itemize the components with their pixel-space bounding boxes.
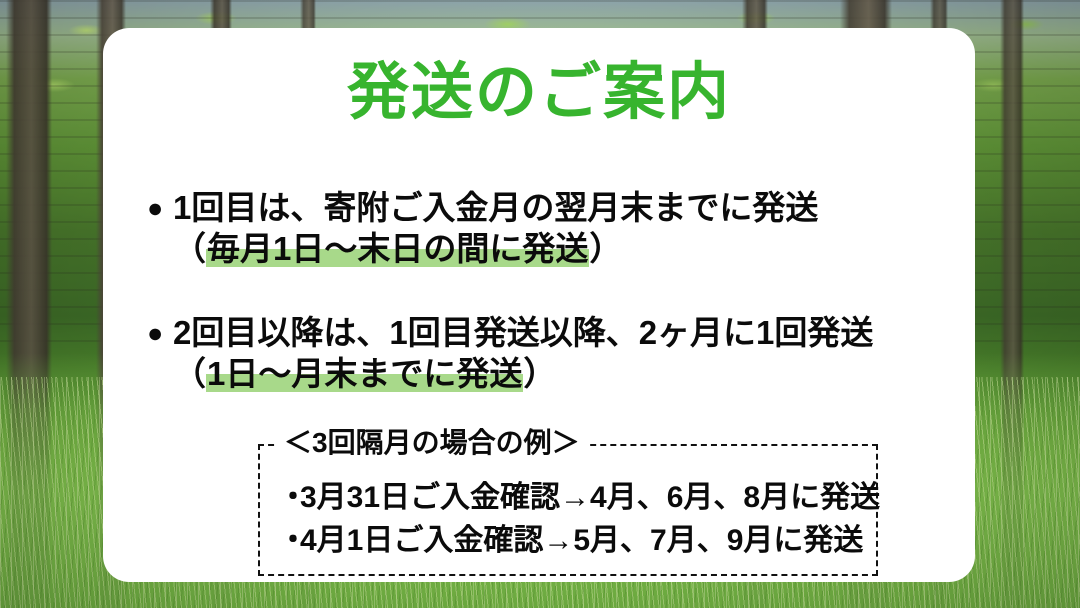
example-bullet-icon: ・ — [278, 520, 300, 563]
bullet-marker-icon: ● — [147, 192, 173, 225]
slide-stage: 発送のご案内 ●1回目は、寄附ご入金月の翌月末までに発送 （毎月1日〜末日の間に… — [0, 0, 1080, 608]
bullet-2-main-line: ●2回目以降は、1回目発送以降、2ヶ月に1回発送 — [147, 313, 955, 354]
example-box-title: ＜3回隔月の場合の例＞ — [276, 428, 588, 459]
example-line-1: ・3月31日ご入金確認→4月、6月、8月に発送 — [278, 477, 880, 520]
bullet-2-sub-line: （1日〜月末までに発送） — [147, 354, 955, 395]
bullet-marker-icon: ● — [147, 317, 173, 350]
bullet-1-main-line: ●1回目は、寄附ご入金月の翌月末までに発送 — [147, 188, 955, 229]
content-card: 発送のご案内 ●1回目は、寄附ご入金月の翌月末までに発送 （毎月1日〜末日の間に… — [103, 28, 975, 582]
bullet-2-main-text: 2回目以降は、1回目発送以降、2ヶ月に1回発送 — [173, 314, 873, 351]
bullet-1-paren-open: （ — [173, 230, 206, 267]
example-line-1-text: 3月31日ご入金確認→4月、6月、8月に発送 — [300, 481, 880, 514]
bullet-item-1: ●1回目は、寄附ご入金月の翌月末までに発送 （毎月1日〜末日の間に発送） — [147, 188, 955, 270]
bullet-1-main-text: 1回目は、寄附ご入金月の翌月末までに発送 — [173, 189, 818, 226]
bullet-1-highlighted-text: 毎月1日〜末日の間に発送 — [206, 230, 589, 267]
example-box-lines: ・3月31日ご入金確認→4月、6月、8月に発送 ・4月1日ご入金確認→5月、7月… — [278, 477, 880, 562]
bullet-2-highlighted-text: 1日〜月末までに発送 — [206, 355, 523, 392]
bullet-1-paren-close: ） — [589, 230, 622, 267]
bullet-item-2: ●2回目以降は、1回目発送以降、2ヶ月に1回発送 （1日〜月末までに発送） — [147, 313, 955, 395]
example-line-2: ・4月1日ご入金確認→5月、7月、9月に発送 — [278, 520, 880, 563]
example-line-2-text: 4月1日ご入金確認→5月、7月、9月に発送 — [300, 524, 863, 557]
bullet-2-paren-open: （ — [173, 355, 206, 392]
example-bullet-icon: ・ — [278, 477, 300, 520]
page-title: 発送のご案内 — [103, 62, 975, 124]
bullet-2-paren-close: ） — [523, 355, 556, 392]
bullet-1-sub-line: （毎月1日〜末日の間に発送） — [147, 229, 955, 270]
